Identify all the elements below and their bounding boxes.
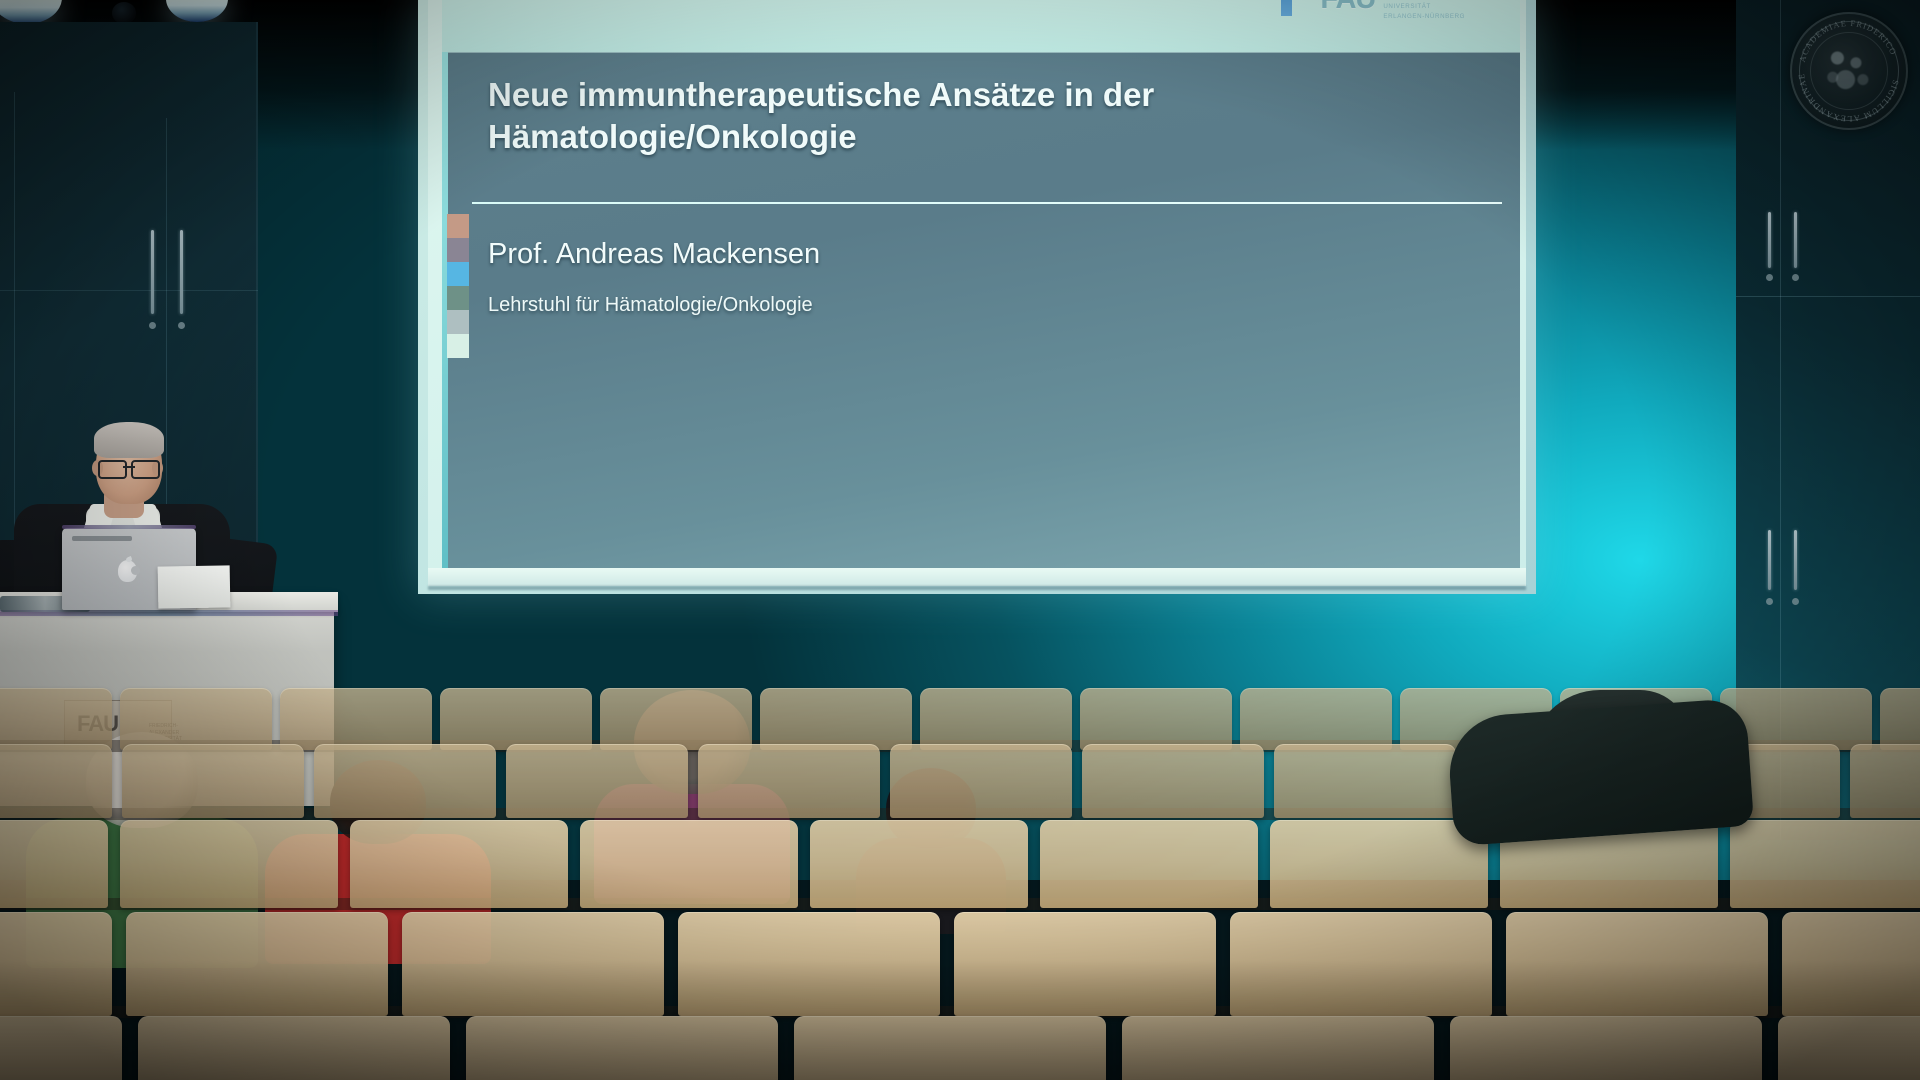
auditorium-seat[interactable] bbox=[1778, 1016, 1920, 1080]
slide-swatch bbox=[447, 310, 469, 334]
lectern-notes bbox=[158, 565, 231, 608]
auditorium-seat[interactable] bbox=[1230, 912, 1492, 1016]
presenter-hair bbox=[94, 422, 164, 458]
auditorium-seat[interactable] bbox=[120, 820, 338, 908]
eyeglasses-icon bbox=[98, 460, 160, 475]
auditorium-seat[interactable] bbox=[0, 688, 112, 750]
auditorium-seat[interactable] bbox=[122, 744, 304, 818]
auditorium-seat[interactable] bbox=[120, 688, 272, 750]
auditorium-seat[interactable] bbox=[1730, 820, 1920, 908]
slide-divider bbox=[472, 202, 1502, 204]
auditorium-seat[interactable] bbox=[1080, 688, 1232, 750]
presenter-name: Prof. Andreas Mackensen bbox=[488, 238, 820, 271]
auditorium-seat[interactable] bbox=[760, 688, 912, 750]
auditorium-seat[interactable] bbox=[1240, 688, 1392, 750]
auditorium-seat[interactable] bbox=[1782, 912, 1920, 1016]
projected-slide: FAU FRIEDRICH-ALEXANDER UNIVERSITÄT ERLA… bbox=[428, 0, 1526, 574]
seal-text-top: ACADEMIAE FRIDERICO bbox=[1798, 19, 1898, 63]
auditorium-seat[interactable] bbox=[280, 688, 432, 750]
fau-logo-subtitle: FRIEDRICH-ALEXANDER UNIVERSITÄT ERLANGEN… bbox=[1383, 0, 1468, 23]
cabinet-handle-icon[interactable] bbox=[180, 230, 183, 314]
cabinet-handle-icon[interactable] bbox=[1768, 212, 1771, 268]
auditorium-seat[interactable] bbox=[1040, 820, 1258, 908]
fau-logo: FAU FRIEDRICH-ALEXANDER UNIVERSITÄT ERLA… bbox=[1260, 0, 1468, 23]
slide-header-band: FAU FRIEDRICH-ALEXANDER UNIVERSITÄT ERLA… bbox=[442, 0, 1520, 52]
slide-swatch bbox=[447, 214, 469, 238]
auditorium-seat[interactable] bbox=[600, 688, 752, 750]
cabinet-knob-icon[interactable] bbox=[1766, 274, 1773, 281]
auditorium-seat[interactable] bbox=[314, 744, 496, 818]
auditorium-seat[interactable] bbox=[440, 688, 592, 750]
auditorium-seat[interactable] bbox=[1082, 744, 1264, 818]
cabinet-knob-icon[interactable] bbox=[1792, 598, 1799, 605]
university-seal-icon: ACADEMIAE FRIDERICO SIGILLUM ALEXANDRINA… bbox=[1790, 12, 1908, 130]
auditorium-seat[interactable] bbox=[1122, 1016, 1434, 1080]
laptop-vent bbox=[72, 536, 132, 541]
auditorium-seat[interactable] bbox=[954, 912, 1216, 1016]
draped-jacket bbox=[1446, 698, 1754, 847]
cabinet-seam bbox=[0, 290, 258, 291]
cabinet-seam bbox=[1736, 296, 1920, 297]
slide-title: Neue immuntherapeutische Ansätze in der … bbox=[488, 74, 1308, 157]
cabinet-knob-icon[interactable] bbox=[149, 322, 156, 329]
seal-text-bottom: SIGILLUM ALEXANDRINAE bbox=[1797, 73, 1900, 124]
screen-bottom-border bbox=[428, 568, 1526, 586]
auditorium-seat[interactable] bbox=[580, 820, 798, 908]
auditorium-seat[interactable] bbox=[890, 744, 1072, 818]
cabinet-handle-icon[interactable] bbox=[151, 230, 154, 314]
auditorium-seat[interactable] bbox=[1880, 688, 1920, 750]
auditorium-seat[interactable] bbox=[506, 744, 688, 818]
auditorium-seat[interactable] bbox=[402, 912, 664, 1016]
auditorium-seat[interactable] bbox=[126, 912, 388, 1016]
auditorium-seat[interactable] bbox=[0, 912, 112, 1016]
auditorium-seat[interactable] bbox=[1274, 744, 1456, 818]
auditorium-seat[interactable] bbox=[350, 820, 568, 908]
auditorium-seat[interactable] bbox=[920, 688, 1072, 750]
slide-swatch bbox=[447, 238, 469, 262]
auditorium-seat[interactable] bbox=[1270, 820, 1488, 908]
auditorium-seat[interactable] bbox=[138, 1016, 450, 1080]
cabinet-handle-icon[interactable] bbox=[1794, 212, 1797, 268]
auditorium-seat[interactable] bbox=[0, 820, 108, 908]
presenter-department: Lehrstuhl für Hämatologie/Onkologie bbox=[488, 294, 813, 317]
screen-shadow bbox=[428, 586, 1526, 590]
cabinet-knob-icon[interactable] bbox=[178, 322, 185, 329]
slide-swatch bbox=[447, 286, 469, 310]
slide-body: Neue immuntherapeutische Ansätze in der … bbox=[442, 52, 1520, 574]
auditorium-seat[interactable] bbox=[1450, 1016, 1762, 1080]
ceiling-dome-icon bbox=[112, 2, 136, 24]
auditorium-seat[interactable] bbox=[678, 912, 940, 1016]
fau-wordmark: FAU bbox=[1320, 0, 1375, 12]
auditorium-seat[interactable] bbox=[794, 1016, 1106, 1080]
projection-screen: FAU FRIEDRICH-ALEXANDER UNIVERSITÄT ERLA… bbox=[418, 0, 1536, 594]
auditorium-seat[interactable] bbox=[698, 744, 880, 818]
fau-logo-line3: ERLANGEN-NÜRNBERG bbox=[1383, 12, 1468, 22]
cabinet-knob-icon[interactable] bbox=[1766, 598, 1773, 605]
auditorium-seat[interactable] bbox=[466, 1016, 778, 1080]
cabinet-handle-icon[interactable] bbox=[1794, 530, 1797, 590]
fau-logo-line2: UNIVERSITÄT bbox=[1383, 2, 1468, 12]
auditorium-seat[interactable] bbox=[810, 820, 1028, 908]
auditorium-seat[interactable] bbox=[1506, 912, 1768, 1016]
slide-color-swatches bbox=[447, 214, 469, 358]
cabinet-handle-icon[interactable] bbox=[1768, 530, 1771, 590]
slide-swatch bbox=[447, 334, 469, 358]
auditorium-seat[interactable] bbox=[1850, 744, 1920, 818]
auditorium-seat[interactable] bbox=[0, 1016, 122, 1080]
slide-swatch bbox=[447, 262, 469, 286]
fau-mark-icon bbox=[1260, 0, 1312, 16]
lecture-hall-scene: ACADEMIAE FRIDERICO SIGILLUM ALEXANDRINA… bbox=[0, 0, 1920, 1080]
auditorium-seat[interactable] bbox=[0, 744, 112, 818]
cabinet-knob-icon[interactable] bbox=[1792, 274, 1799, 281]
